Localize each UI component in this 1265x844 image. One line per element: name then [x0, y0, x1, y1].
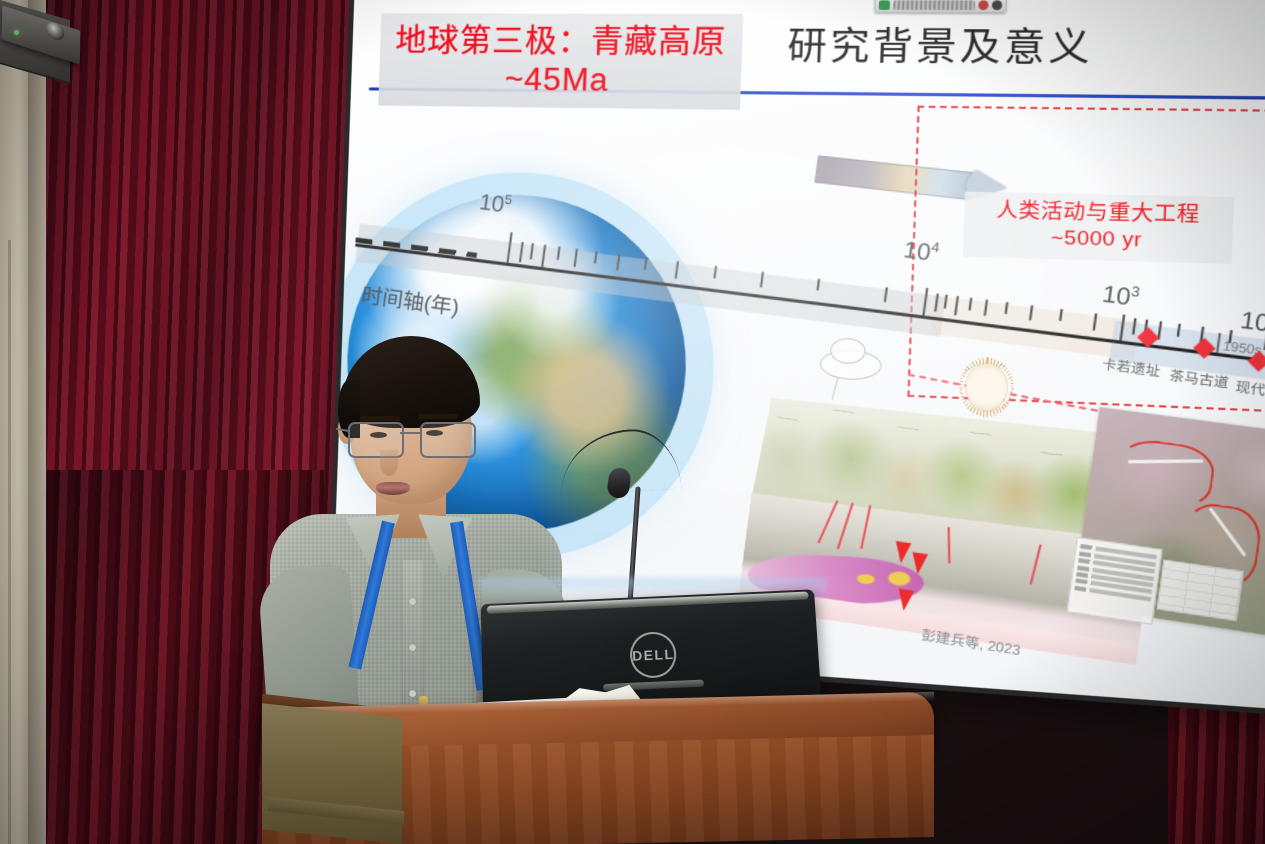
stress-arrow-icon	[893, 541, 911, 564]
presentation-controls-toolbar[interactable]	[874, 0, 1007, 13]
red-headline-line2: ~45Ma	[388, 59, 730, 101]
shirt-button	[409, 690, 416, 697]
red-headline: 地球第三极：青藏高原 ~45Ma	[378, 13, 743, 109]
axis-exponent-10-5: 105	[478, 188, 514, 218]
shirt-button	[409, 598, 416, 605]
axis-exponent-10-4: 104	[902, 236, 941, 268]
record-icon[interactable]	[978, 0, 989, 10]
projector-power-led	[14, 30, 19, 35]
shirt-button	[409, 644, 416, 651]
presenter-mouth	[376, 482, 410, 495]
axis-exponent-10-3: 103	[1100, 280, 1141, 313]
red-callout-line1: 人类活动与重大工程	[996, 200, 1200, 227]
stress-arrow-icon	[896, 589, 914, 612]
glasses-bridge	[400, 432, 422, 434]
slide-title: 研究背景及意义	[787, 16, 1095, 73]
presenter-hair	[342, 336, 480, 428]
settings-icon[interactable]	[992, 0, 1003, 10]
red-headline-line1: 地球第三极：青藏高原	[395, 22, 727, 59]
axis-exponent-10-2: 102	[1239, 306, 1265, 339]
dell-wordmark: DELL	[632, 646, 675, 664]
toolbar-label-strip	[893, 0, 975, 10]
red-callout-line2: ~5000 yr	[972, 224, 1223, 257]
sunburst-icon	[965, 363, 1007, 412]
presentation-photo-scene: 研究背景及意义 地球第三极：青藏高原 ~45Ma 人类活动与重大工程	[0, 0, 1265, 844]
presenter-eyebrow	[418, 414, 458, 419]
presenter-nose	[380, 450, 398, 476]
map-legend	[1067, 537, 1163, 625]
cloud-shape-icon	[819, 349, 882, 381]
hazard-boundary	[1113, 436, 1217, 512]
red-callout: 人类活动与重大工程 ~5000 yr	[963, 192, 1234, 264]
lens-right	[420, 422, 476, 458]
dell-logo: DELL	[625, 626, 682, 683]
podium-left-side	[262, 703, 402, 844]
left-wall-strip	[28, 0, 46, 844]
presenter-eyebrow	[360, 416, 400, 421]
stress-arrow-icon	[910, 552, 928, 575]
eyeglasses-icon	[346, 422, 478, 456]
toolbar-green-chip[interactable]	[879, 0, 890, 10]
